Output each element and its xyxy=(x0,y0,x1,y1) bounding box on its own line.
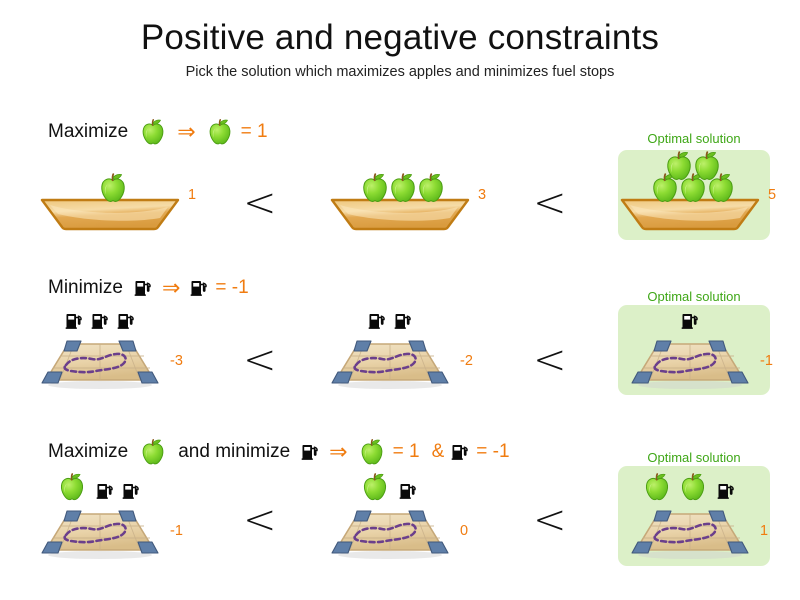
objective-verb-secondary: and minimize xyxy=(178,441,290,463)
route-map-icon xyxy=(40,508,160,560)
slide-canvas: Positive and negative constraints Pick t… xyxy=(0,0,800,600)
item-score: 0 xyxy=(460,524,468,539)
solution-item[interactable]: 3 xyxy=(330,196,470,232)
fuel-pump-icon xyxy=(300,442,320,462)
apple-icon xyxy=(205,117,235,147)
fuel-pump-icon xyxy=(116,311,136,331)
item-score: -1 xyxy=(170,524,183,539)
less-than-symbol: < xyxy=(243,340,277,380)
solution-item[interactable]: 1 xyxy=(40,196,180,232)
implies-arrow: ⇒ xyxy=(162,277,180,299)
row-maximize-apples-header: Maximize ⇒ xyxy=(48,117,274,147)
item-score: 1 xyxy=(188,188,196,203)
fuel-pump-icon xyxy=(121,481,141,501)
optimal-solution-label: Optimal solution xyxy=(618,450,770,465)
implies-arrow: ⇒ xyxy=(177,121,195,143)
route-map-icon xyxy=(630,508,750,560)
apple-icon xyxy=(138,117,168,147)
fuel-pump-icon xyxy=(90,311,110,331)
item-contents xyxy=(40,304,160,338)
row-maximize-and-minimize-header: Maximize and minimize ⇒ xyxy=(48,437,516,467)
item-contents xyxy=(330,474,450,508)
route-map-icon xyxy=(330,508,450,560)
less-than-symbol: < xyxy=(533,500,567,540)
route-map-icon xyxy=(630,338,750,390)
solution-item[interactable]: -1 xyxy=(630,338,750,390)
less-than-symbol: < xyxy=(243,183,277,223)
apple-icon xyxy=(56,471,88,503)
route-map-icon xyxy=(330,338,450,390)
solution-item[interactable]: 5 xyxy=(620,196,760,232)
apple-icon xyxy=(359,471,391,503)
less-than-symbol: < xyxy=(533,340,567,380)
fruit-bowl-icon xyxy=(620,196,760,232)
weight-term-1: & xyxy=(432,441,445,463)
weight-term-0: = -1 xyxy=(215,277,248,299)
page-subtitle: Pick the solution which maximizes apples… xyxy=(0,64,800,80)
item-score: -1 xyxy=(760,354,773,369)
fruit-bowl-icon xyxy=(40,196,180,232)
item-score: 5 xyxy=(768,188,776,203)
item-score: -3 xyxy=(170,354,183,369)
optimal-solution-label: Optimal solution xyxy=(618,131,770,146)
item-score: -2 xyxy=(460,354,473,369)
solution-item[interactable]: -1 xyxy=(40,508,160,560)
item-score: 1 xyxy=(760,524,768,539)
weight-term-2: = -1 xyxy=(476,441,509,463)
fuel-pump-icon xyxy=(189,278,209,298)
row-minimize-fuel-header: Minimize ⇒ = -1 xyxy=(48,277,255,299)
apple-icon xyxy=(357,437,387,467)
route-map-icon xyxy=(40,338,160,390)
objective-verb: Maximize xyxy=(48,441,128,463)
less-than-symbol: < xyxy=(533,183,567,223)
solution-item[interactable]: 1 xyxy=(630,508,750,560)
fruit-bowl-icon xyxy=(330,196,470,232)
fuel-pump-icon xyxy=(367,311,387,331)
solution-item[interactable]: 0 xyxy=(330,508,450,560)
fuel-pump-icon xyxy=(64,311,84,331)
item-score: 3 xyxy=(478,188,486,203)
optimal-solution-label: Optimal solution xyxy=(618,289,770,304)
fuel-pump-icon xyxy=(450,442,470,462)
fuel-pump-icon xyxy=(398,481,418,501)
implies-arrow: ⇒ xyxy=(329,441,347,463)
solution-item[interactable]: -2 xyxy=(330,338,450,390)
fuel-pump-icon xyxy=(393,311,413,331)
solution-item[interactable]: -3 xyxy=(40,338,160,390)
objective-verb: Maximize xyxy=(48,121,128,143)
objective-verb: Minimize xyxy=(48,277,123,299)
fuel-pump-icon xyxy=(133,278,153,298)
fuel-pump-icon xyxy=(95,481,115,501)
item-contents xyxy=(40,474,160,508)
weight-term-0: = 1 xyxy=(393,441,420,463)
less-than-symbol: < xyxy=(243,500,277,540)
weight-term-0: = 1 xyxy=(241,121,268,143)
apple-icon xyxy=(138,437,168,467)
page-title: Positive and negative constraints xyxy=(0,18,800,58)
item-contents xyxy=(330,304,450,338)
